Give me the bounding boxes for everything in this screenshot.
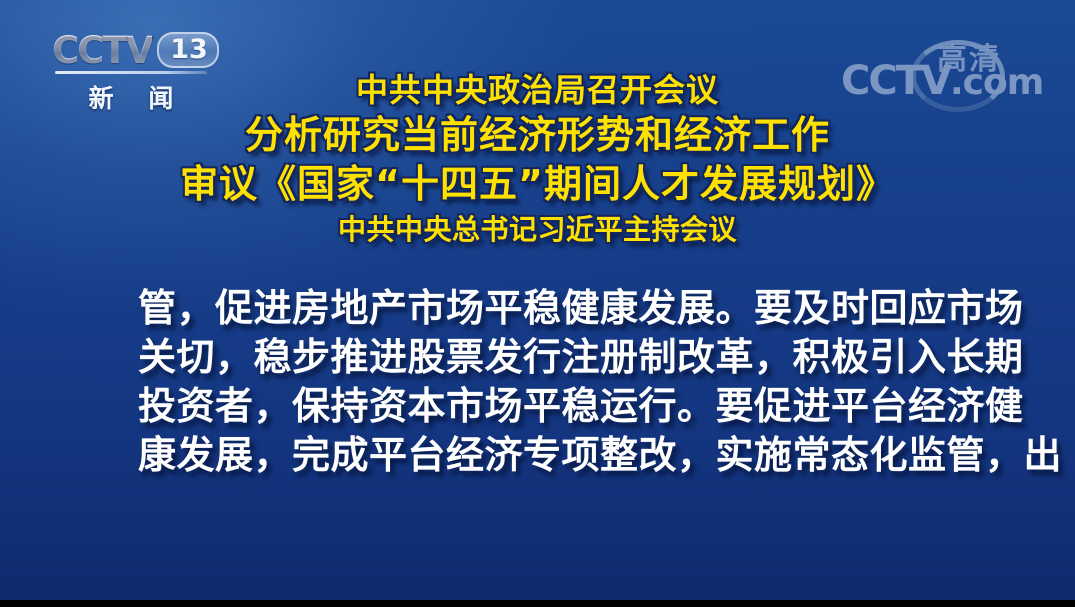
cctv-wordmark: CCTV bbox=[52, 32, 152, 69]
headline-line-1: 中共中央政治局召开会议 bbox=[0, 72, 1075, 108]
body-line-2: 关切，稳步推进股票发行注册制改革，积极引入长期 bbox=[138, 333, 948, 382]
channel-number-label: 13 bbox=[170, 34, 208, 65]
body-line-1: 管，促进房地产市场平稳健康发展。要及时回应市场 bbox=[138, 284, 948, 333]
broadcast-screen: CCTV 13 新 闻 高清 CCTV.com 中共中央政治局召开会议 分析研究… bbox=[0, 0, 1075, 607]
channel-logo-row: CCTV 13 bbox=[52, 30, 222, 70]
headline-line-3: 审议《国家“十四五”期间人才发展规划》 bbox=[0, 163, 1075, 206]
channel-number-badge: 13 bbox=[157, 32, 219, 68]
headline-line-4: 中共中央总书记习近平主持会议 bbox=[0, 214, 1075, 246]
body-copy-block: 管，促进房地产市场平稳健康发展。要及时回应市场 关切，稳步推进股票发行注册制改革… bbox=[138, 284, 948, 480]
headline-block: 中共中央政治局召开会议 分析研究当前经济形势和经济工作 审议《国家“十四五”期间… bbox=[0, 72, 1075, 246]
body-line-4: 康发展，完成平台经济专项整改，实施常态化监管，出 bbox=[138, 431, 948, 480]
bottom-letterbox-bar bbox=[0, 600, 1075, 607]
headline-line-2: 分析研究当前经济形势和经济工作 bbox=[0, 114, 1075, 157]
body-line-3: 投资者，保持资本市场平稳运行。要促进平台经济健 bbox=[138, 382, 948, 431]
